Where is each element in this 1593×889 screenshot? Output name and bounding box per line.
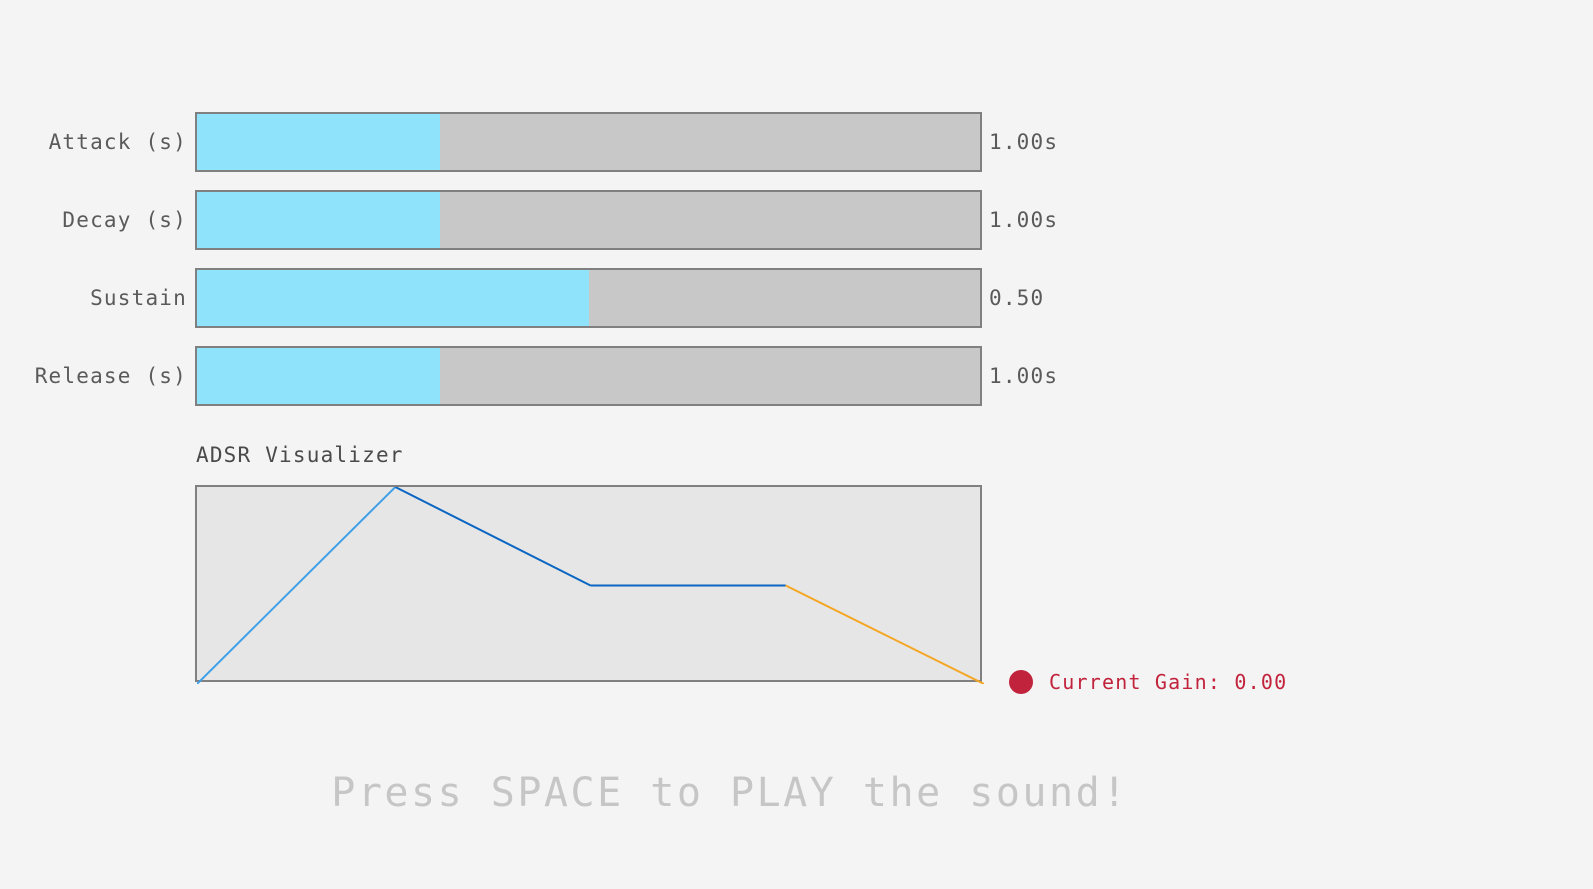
slider-fill[interactable] (197, 270, 589, 326)
slider-value: 1.00s (989, 190, 1058, 250)
slider-value: 1.00s (989, 346, 1058, 406)
envelope-segment-release (786, 586, 984, 685)
slider-row: Sustain0.50 (0, 268, 1200, 328)
envelope-segment-decay (395, 487, 590, 586)
slider-value: 1.00s (989, 112, 1058, 172)
slider-fill[interactable] (197, 114, 440, 170)
slider-value: 0.50 (989, 268, 1044, 328)
adsr-envelope-curve (197, 487, 984, 684)
slider-label: Release (s) (0, 346, 187, 406)
slider-label: Sustain (0, 268, 187, 328)
current-gain-label: Current Gain: 0.00 (1049, 670, 1287, 694)
slider-row: Release (s)1.00s (0, 346, 1200, 406)
adsr-visualizer-plot (195, 485, 982, 682)
slider-row: Decay (s)1.00s (0, 190, 1200, 250)
gain-dot-icon (1009, 670, 1033, 694)
slider-track[interactable] (195, 268, 982, 328)
play-hint-text: Press SPACE to PLAY the sound! (0, 770, 1460, 816)
slider-track[interactable] (195, 190, 982, 250)
slider-label: Attack (s) (0, 112, 187, 172)
slider-fill[interactable] (197, 348, 440, 404)
visualizer-title: ADSR Visualizer (196, 443, 404, 467)
envelope-segment-attack (197, 487, 395, 684)
slider-track[interactable] (195, 346, 982, 406)
slider-track[interactable] (195, 112, 982, 172)
slider-label: Decay (s) (0, 190, 187, 250)
slider-row: Attack (s)1.00s (0, 112, 1200, 172)
adsr-app-root: Attack (s)1.00sDecay (s)1.00sSustain0.50… (0, 0, 1593, 889)
current-gain-indicator: Current Gain: 0.00 (1009, 668, 1287, 696)
slider-fill[interactable] (197, 192, 440, 248)
